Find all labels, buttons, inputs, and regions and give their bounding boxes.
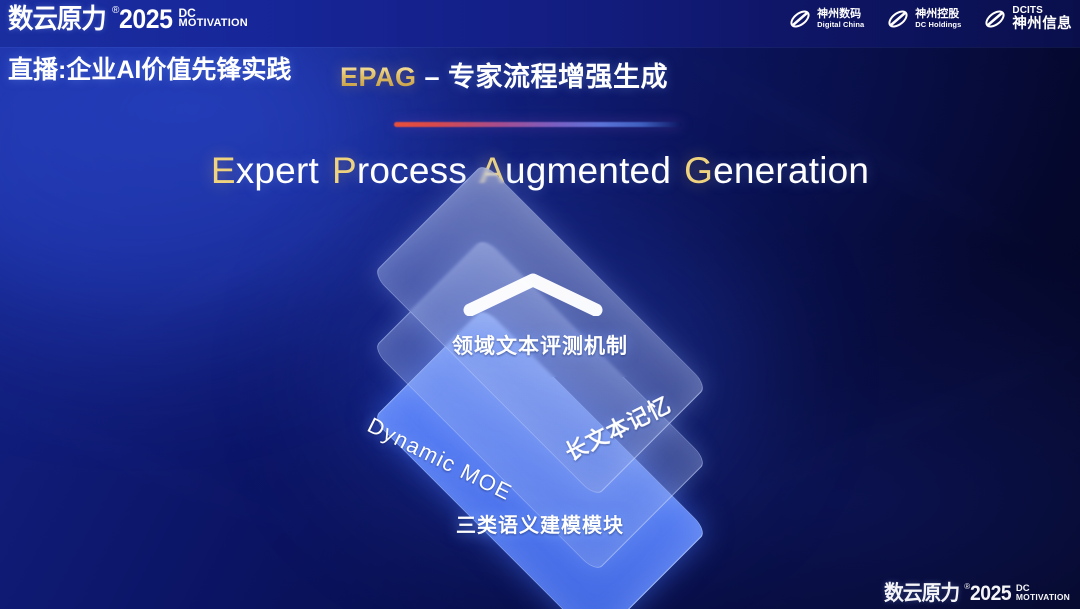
- partner-name-en: DCITS: [1012, 6, 1072, 17]
- partner-name-cn: 神州控股: [915, 9, 961, 21]
- partner-logo-digital-china: 神州数码 Digital China: [788, 7, 864, 31]
- layer-label-bottom: 三类语义建模模块: [0, 509, 1080, 538]
- brand-dc-motivation: DC MOTIVATION: [178, 6, 247, 29]
- watermark-motivation-text: MOTIVATION: [1016, 593, 1070, 602]
- chevron-up-icon: [462, 272, 604, 316]
- subhead-rest-2: rocess: [357, 150, 467, 191]
- partner-names: 神州数码 Digital China: [817, 9, 864, 28]
- layer-label-dynamic-moe: Dynamic MOE: [363, 412, 516, 506]
- partner-name-en: Digital China: [817, 21, 864, 29]
- partner-names: DCITS 神州信息: [1012, 6, 1072, 32]
- background-glow-center: [330, 210, 760, 540]
- partner-logo-dcits: DCITS 神州信息: [983, 6, 1072, 32]
- partner-logo-dc-holdings: 神州控股 DC Holdings: [886, 7, 961, 31]
- subhead-cap-1: E: [211, 150, 236, 191]
- layer-label-long-text-memory: 长文本记忆: [559, 387, 676, 467]
- page-title: EPAG – 专家流程增强生成: [340, 55, 668, 94]
- subhead-rest-1: xpert: [236, 150, 319, 191]
- subheading: ExpertProcessAugmentedGeneration: [0, 150, 1080, 192]
- watermark-year: 2025: [970, 583, 1011, 604]
- title-dash: –: [417, 62, 449, 92]
- title-chinese: 专家流程增强生成: [448, 62, 668, 92]
- brand-motivation-text: MOTIVATION: [178, 18, 247, 29]
- partner-names: 神州控股 DC Holdings: [915, 9, 961, 28]
- brand-year: 2025: [119, 6, 172, 33]
- slide-canvas: 数云原力 ® 2025 DC MOTIVATION 直播:企业AI价值先锋实践 …: [0, 0, 1080, 609]
- subhead-rest-4: eneration: [713, 150, 869, 191]
- subhead-cap-3: A: [480, 150, 505, 191]
- layer-label-top: 领域文本评测机制: [0, 330, 1080, 360]
- swirl-logo-icon: [886, 7, 910, 31]
- partner-logo-group: 神州数码 Digital China 神州控股 DC Holdings DCIT…: [788, 6, 1072, 32]
- footer-watermark-logo: 数云原力 ® 2025 DC MOTIVATION: [884, 583, 1070, 604]
- watermark-dc-motivation: DC MOTIVATION: [1016, 583, 1070, 601]
- swirl-logo-icon: [788, 7, 812, 31]
- partner-name-cn: 神州数码: [817, 9, 864, 21]
- brand-logo: 数云原力 ® 2025 DC MOTIVATION: [8, 6, 248, 33]
- live-title: 直播:企业AI价值先锋实践: [8, 50, 291, 86]
- subhead-rest-3: ugmented: [505, 150, 671, 191]
- partner-name-en: DC Holdings: [915, 21, 961, 29]
- partner-name-cn: 神州信息: [1012, 17, 1072, 32]
- title-acronym: EPAG: [340, 62, 417, 92]
- subhead-cap-4: G: [684, 150, 713, 191]
- brand-name-cn: 数云原力: [8, 6, 106, 33]
- watermark-name-cn: 数云原力: [884, 583, 959, 604]
- subhead-cap-2: P: [332, 150, 357, 191]
- gradient-divider: [394, 122, 682, 127]
- swirl-logo-icon: [983, 7, 1007, 31]
